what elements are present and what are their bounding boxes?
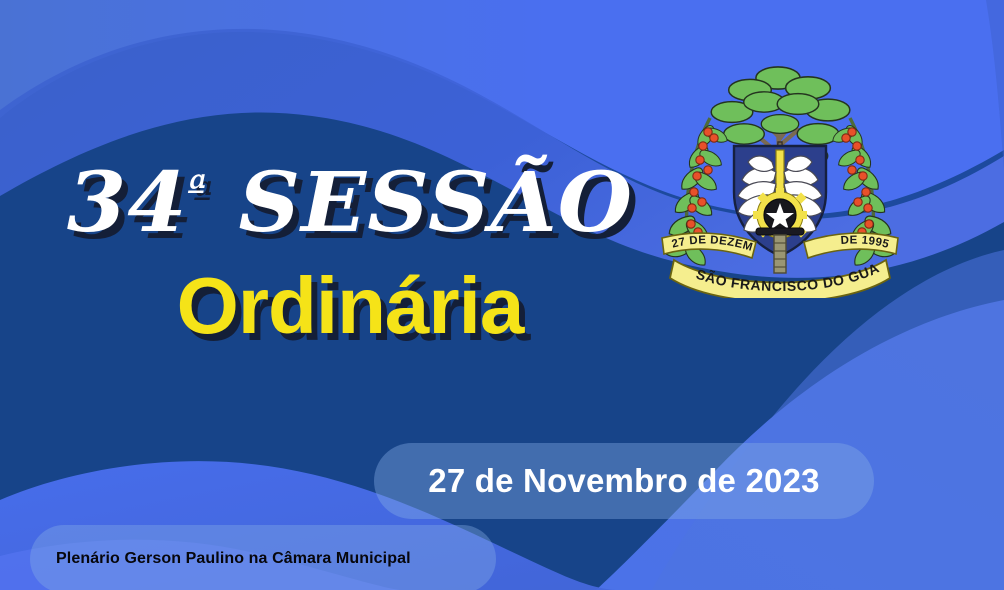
session-date-badge: 27 de Novembro de 2023 (374, 443, 874, 519)
coat-of-arms-emblem: 27 DE DEZEMBRO DE 1995 SÃO FRANCISCO DO … (652, 42, 908, 298)
emblem-sword-grip (774, 235, 786, 273)
session-venue-text: Plenário Gerson Paulino na Câmara Munici… (56, 550, 411, 568)
session-date-text: 27 de Novembro de 2023 (428, 462, 819, 500)
session-venue-badge: Plenário Gerson Paulino na Câmara Munici… (30, 525, 496, 590)
coat-of-arms-svg: 27 DE DEZEMBRO DE 1995 SÃO FRANCISCO DO … (652, 42, 908, 298)
session-banner: 27 DE DEZEMBRO DE 1995 SÃO FRANCISCO DO … (0, 0, 1004, 590)
